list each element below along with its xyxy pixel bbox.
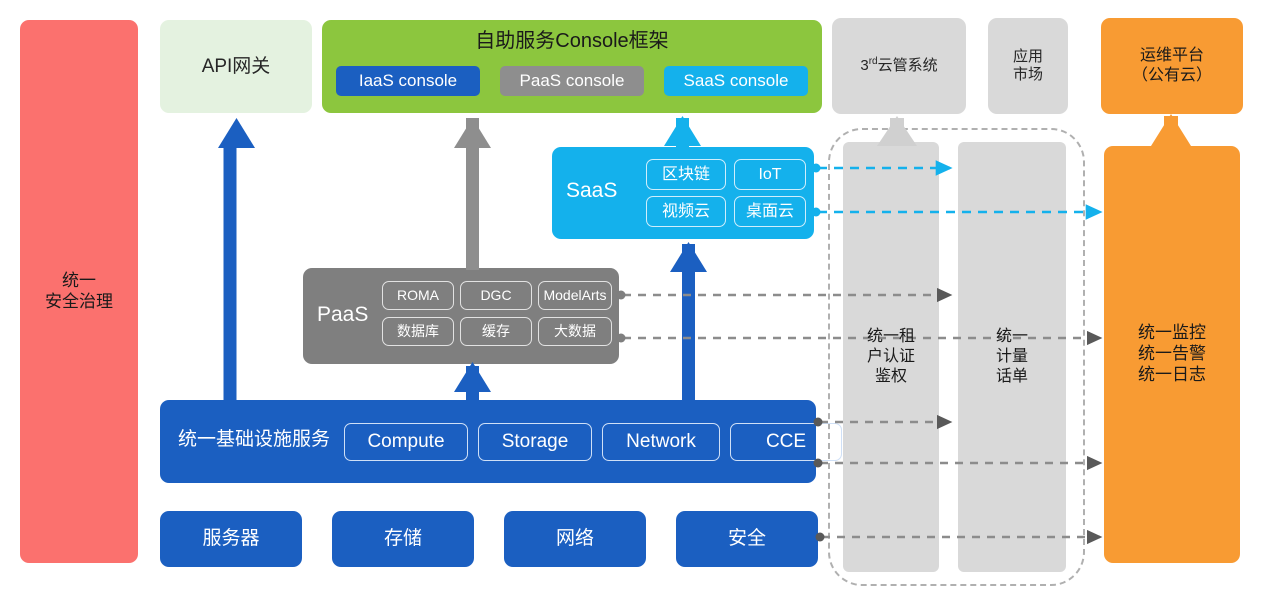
saas-chip-video-cloud[interactable]: 视频云 — [646, 196, 726, 227]
application-market[interactable]: 应用 市场 — [988, 18, 1068, 114]
column-unified-tenant-auth[interactable]: 统一租 户认证 鉴权 — [843, 142, 939, 572]
resource-security[interactable]: 安全 — [676, 511, 818, 567]
paas-chip-dgc[interactable]: DGC — [460, 281, 532, 310]
column-billing-label: 统一 计量 话单 — [996, 327, 1028, 387]
paas-console-chip[interactable]: PaaS console — [500, 66, 644, 96]
third-party-cloud-management-system[interactable]: 3rd云管系统 — [832, 18, 966, 114]
iaas-console-chip[interactable]: IaaS console — [336, 66, 480, 96]
arrow-infra-to-saas — [670, 242, 707, 404]
paas-label: PaaS — [317, 302, 368, 328]
ops-platform-public-cloud[interactable]: 运维平台 （公有云） — [1101, 18, 1243, 114]
unified-infrastructure-service[interactable]: 统一基础设施服务 Compute Storage Network CCE — [160, 400, 816, 483]
resource-storage[interactable]: 存储 — [332, 511, 474, 567]
saas-layer[interactable]: SaaS 区块链 IoT 视频云 桌面云 — [552, 147, 814, 239]
infrastructure-label: 统一基础设施服务 — [178, 428, 330, 451]
column-unified-billing[interactable]: 统一 计量 话单 — [958, 142, 1066, 572]
saas-chip-desktop-cloud[interactable]: 桌面云 — [734, 196, 806, 227]
paas-chip-cache[interactable]: 缓存 — [460, 317, 532, 346]
third-party-label: 3rd云管系统 — [860, 56, 937, 75]
arrow-paas-to-console — [454, 118, 491, 270]
infra-chip-cce[interactable]: CCE — [730, 423, 842, 461]
unified-security-governance[interactable]: 统一 安全治理 — [20, 20, 138, 563]
infra-chip-storage[interactable]: Storage — [478, 423, 592, 461]
ops-top-label: 运维平台 （公有云） — [1132, 46, 1212, 85]
arrow-infra-to-apigw — [218, 118, 255, 402]
saas-chip-iot[interactable]: IoT — [734, 159, 806, 190]
architecture-diagram: 统一租 户认证 鉴权 统一 计量 话单 统一 安全治理 API网关 自助服务Co… — [0, 0, 1265, 605]
self-service-console-framework[interactable]: 自助服务Console框架 IaaS console PaaS console … — [322, 20, 822, 113]
infra-chip-compute[interactable]: Compute — [344, 423, 468, 461]
column-auth-label: 统一租 户认证 鉴权 — [867, 327, 915, 387]
paas-chip-roma[interactable]: ROMA — [382, 281, 454, 310]
arrow-infra-to-paas — [454, 362, 491, 404]
paas-chip-bigdata[interactable]: 大数据 — [538, 317, 612, 346]
resource-server[interactable]: 服务器 — [160, 511, 302, 567]
paas-chip-modelarts[interactable]: ModelArts — [538, 281, 612, 310]
application-market-label: 应用 市场 — [1013, 48, 1043, 85]
saas-console-chip[interactable]: SaaS console — [664, 66, 808, 96]
api-gateway[interactable]: API网关 — [160, 20, 312, 113]
third-party-ordinal-sup: rd — [869, 56, 878, 67]
governance-label: 统一 安全治理 — [45, 271, 113, 312]
saas-label: SaaS — [566, 178, 617, 204]
resource-network[interactable]: 网络 — [504, 511, 646, 567]
paas-layer[interactable]: PaaS ROMA DGC ModelArts 数据库 缓存 大数据 — [303, 268, 619, 364]
api-gateway-label: API网关 — [202, 55, 271, 78]
arrow-ops-panel-to-ops-top — [1151, 114, 1191, 146]
console-framework-title: 自助服务Console框架 — [322, 29, 822, 53]
unified-monitoring-panel[interactable]: 统一监控 统一告警 统一日志 — [1104, 146, 1240, 563]
infra-chip-network[interactable]: Network — [602, 423, 720, 461]
ops-panel-label: 统一监控 统一告警 统一日志 — [1138, 323, 1206, 385]
saas-chip-blockchain[interactable]: 区块链 — [646, 159, 726, 190]
paas-chip-database[interactable]: 数据库 — [382, 317, 454, 346]
